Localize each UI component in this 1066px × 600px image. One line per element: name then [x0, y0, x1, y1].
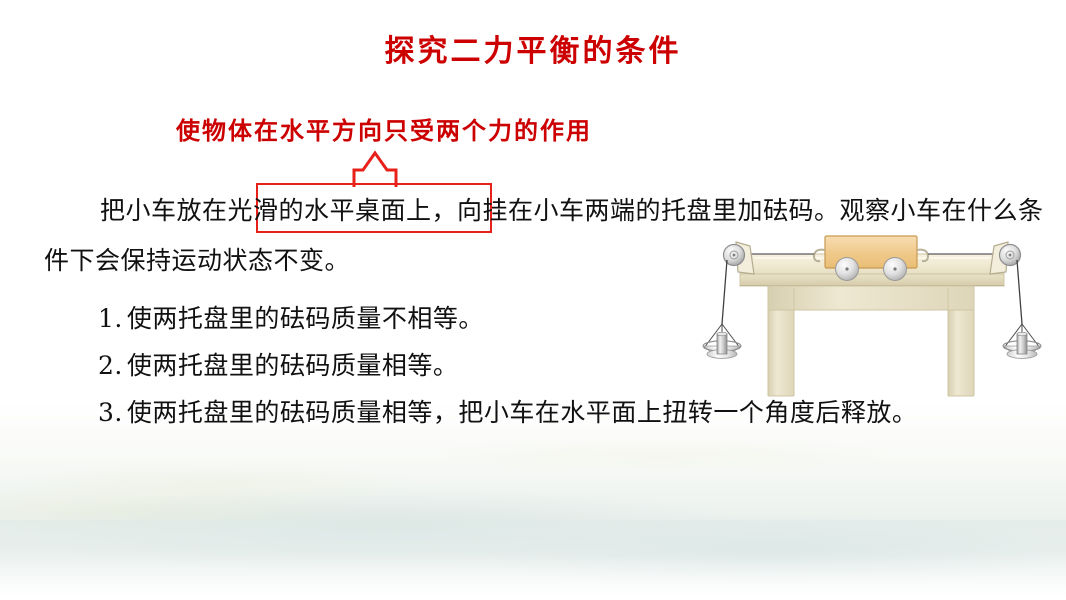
table-top-edge — [740, 274, 1004, 286]
string-left-vertical — [722, 260, 727, 324]
string-right-vertical — [1017, 260, 1022, 324]
list-item-number: 1. — [98, 295, 123, 342]
table-graphic — [740, 254, 1004, 396]
experiment-diagram — [692, 228, 1052, 420]
weight-right — [1017, 334, 1027, 354]
annotation-callout-text: 使物体在水平方向只受两个力的作用 — [176, 111, 592, 146]
background-mist-haze — [0, 430, 1066, 520]
background-mist-lower — [0, 520, 1066, 600]
weight-pan-left — [703, 324, 741, 358]
page-title: 探究二力平衡的条件 — [0, 26, 1066, 70]
experiment-diagram-svg — [692, 228, 1052, 420]
background-mist-middle — [0, 470, 1066, 585]
list-item-label: 使两托盘里的砝码质量相等。 — [127, 351, 459, 380]
table-apron — [768, 286, 974, 310]
list-item-label: 使两托盘里的砝码质量不相等。 — [127, 304, 484, 333]
slide-canvas: 探究二力平衡的条件 使物体在水平方向只受两个力的作用 把小车放在光滑的水平桌面上… — [0, 0, 1066, 600]
list-item-number: 3. — [98, 389, 123, 436]
weight-left — [717, 334, 727, 354]
list-item-number: 2. — [98, 342, 123, 389]
weight-pan-right — [1003, 324, 1041, 358]
